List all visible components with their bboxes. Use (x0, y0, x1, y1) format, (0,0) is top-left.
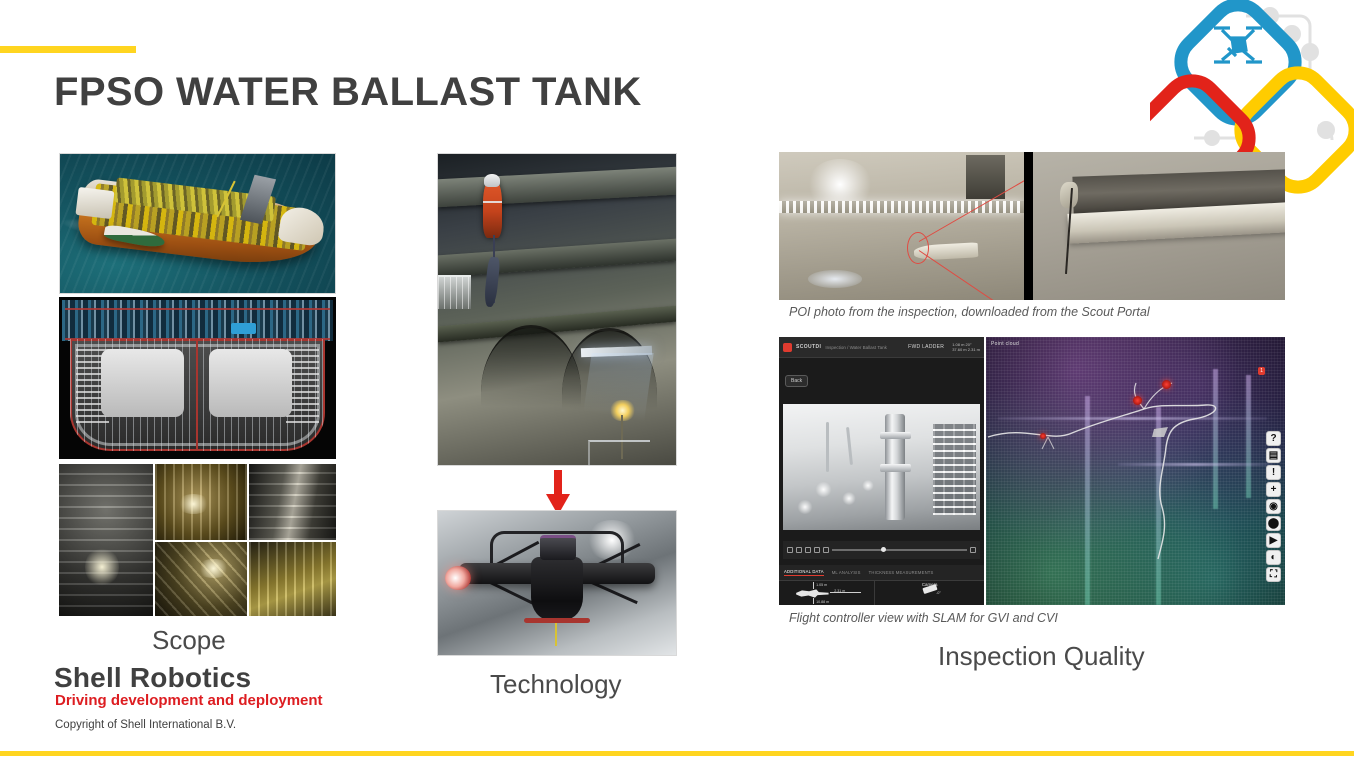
flight-ui-brand: SCOUTDI (796, 344, 821, 350)
footer-copyright: Copyright of Shell International B.V. (55, 719, 236, 731)
pointcloud-label: Point cloud (991, 341, 1019, 347)
flight-ui-tabs[interactable]: ADDITIONAL DATA ML ANALYSIS THICKNESS ME… (779, 565, 984, 581)
video-icon[interactable]: ▶ (1266, 533, 1281, 548)
flight-ui-breadcrumb: Inspection / Water Ballast Tank (825, 345, 887, 350)
flight-ui-telemetry: 1.08 m 20° 37.60 m 2.31 m (948, 342, 980, 352)
warning-icon[interactable]: ! (1266, 465, 1281, 480)
tab-additional-data[interactable]: ADDITIONAL DATA (784, 569, 824, 576)
video-scrubber[interactable] (783, 541, 980, 560)
scoutdi-logo-icon (783, 343, 792, 352)
warning-badge: 1 (1258, 367, 1265, 375)
page-title: FPSO WATER BALLAST TANK (54, 70, 642, 115)
collage-photo (59, 464, 153, 616)
section-label-scope: Scope (152, 625, 226, 656)
step-fwd-icon[interactable] (823, 547, 829, 553)
step-back-icon[interactable] (805, 547, 811, 553)
poi-photo-pair (779, 152, 1285, 300)
drone-camera-feed (783, 404, 980, 530)
inspection-drone-photo (437, 510, 677, 656)
collage-photo (249, 542, 336, 616)
section-label-inspection-quality: Inspection Quality (938, 641, 1145, 672)
flag-icon[interactable] (787, 547, 793, 553)
drone-flight-path (986, 337, 1285, 605)
tab-ml-analysis[interactable]: ML ANALYSIS (832, 570, 861, 575)
tab-thickness-measurements[interactable]: THICKNESS MEASUREMENTS (869, 570, 934, 575)
distance-forward: 2.31 m (834, 589, 845, 593)
distance-diagram: 1.05 m 2.31 m 10.88 m (779, 581, 875, 605)
drone-silhouette-icon (796, 588, 828, 599)
poi-marker (1133, 396, 1142, 405)
rope-access-inspection-photo (437, 153, 677, 466)
slam-point-cloud-view: Point cloud 1 ? ▤ ! + ◉ ⬤ ▶ ◐ ⛶ (986, 337, 1285, 605)
footer-tagline: Driving development and deployment (55, 692, 323, 709)
pointcloud-toolbar[interactable]: ? ▤ ! + ◉ ⬤ ▶ ◐ ⛶ (1266, 431, 1281, 582)
collage-photo (155, 464, 246, 540)
add-icon[interactable]: + (1266, 482, 1281, 497)
distance-down: 10.88 m (816, 600, 829, 604)
section-label-technology: Technology (490, 669, 622, 700)
footer-brand: Shell Robotics (54, 662, 251, 694)
record-icon[interactable]: ⬤ (1266, 516, 1281, 531)
flight-ui-topbar: SCOUTDI Inspection / Water Ballast Tank … (779, 337, 984, 358)
distance-up: 1.05 m (816, 583, 827, 587)
bottom-accent-rule (0, 751, 1354, 756)
map-icon[interactable]: ▤ (1266, 448, 1281, 463)
eye-icon[interactable]: ◉ (1266, 499, 1281, 514)
camera-angle: -0° (936, 591, 941, 595)
poi-photo-caption: POI photo from the inspection, downloade… (789, 305, 1150, 319)
tank-interior-collage (59, 464, 336, 616)
collage-photo (249, 464, 336, 540)
flight-ui-data-panel: 1.05 m 2.31 m 10.88 m Camera -0° Lights … (779, 581, 984, 605)
ballast-tank-cross-section (59, 297, 336, 459)
title-accent-bar (0, 46, 136, 53)
contrast-icon[interactable]: ◐ (1266, 550, 1281, 565)
collage-photo (155, 542, 246, 616)
fpso-aerial-photo (59, 153, 336, 294)
back-button[interactable]: Back (785, 375, 808, 387)
play-icon[interactable] (814, 547, 820, 553)
poi-photo-left (779, 152, 1024, 300)
flight-ui-location: FWD LADDER (908, 344, 944, 350)
slide-canvas: FPSO WATER BALLAST TANK (0, 0, 1354, 760)
timeline-track[interactable] (832, 549, 967, 551)
quadcopter-drone-icon (1214, 28, 1262, 62)
prev-icon[interactable] (796, 547, 802, 553)
flight-controller-caption: Flight controller view with SLAM for GVI… (789, 611, 1058, 625)
help-icon[interactable]: ? (1266, 431, 1281, 446)
flight-controller-ui: SCOUTDI Inspection / Water Ballast Tank … (779, 337, 984, 605)
camera-lights-panel: Camera -0° Lights Left Right Top 100 % T… (875, 581, 984, 605)
poi-photo-right (1033, 152, 1286, 300)
fullscreen-icon[interactable]: ⛶ (1266, 567, 1281, 582)
fullscreen-icon[interactable] (970, 547, 976, 553)
